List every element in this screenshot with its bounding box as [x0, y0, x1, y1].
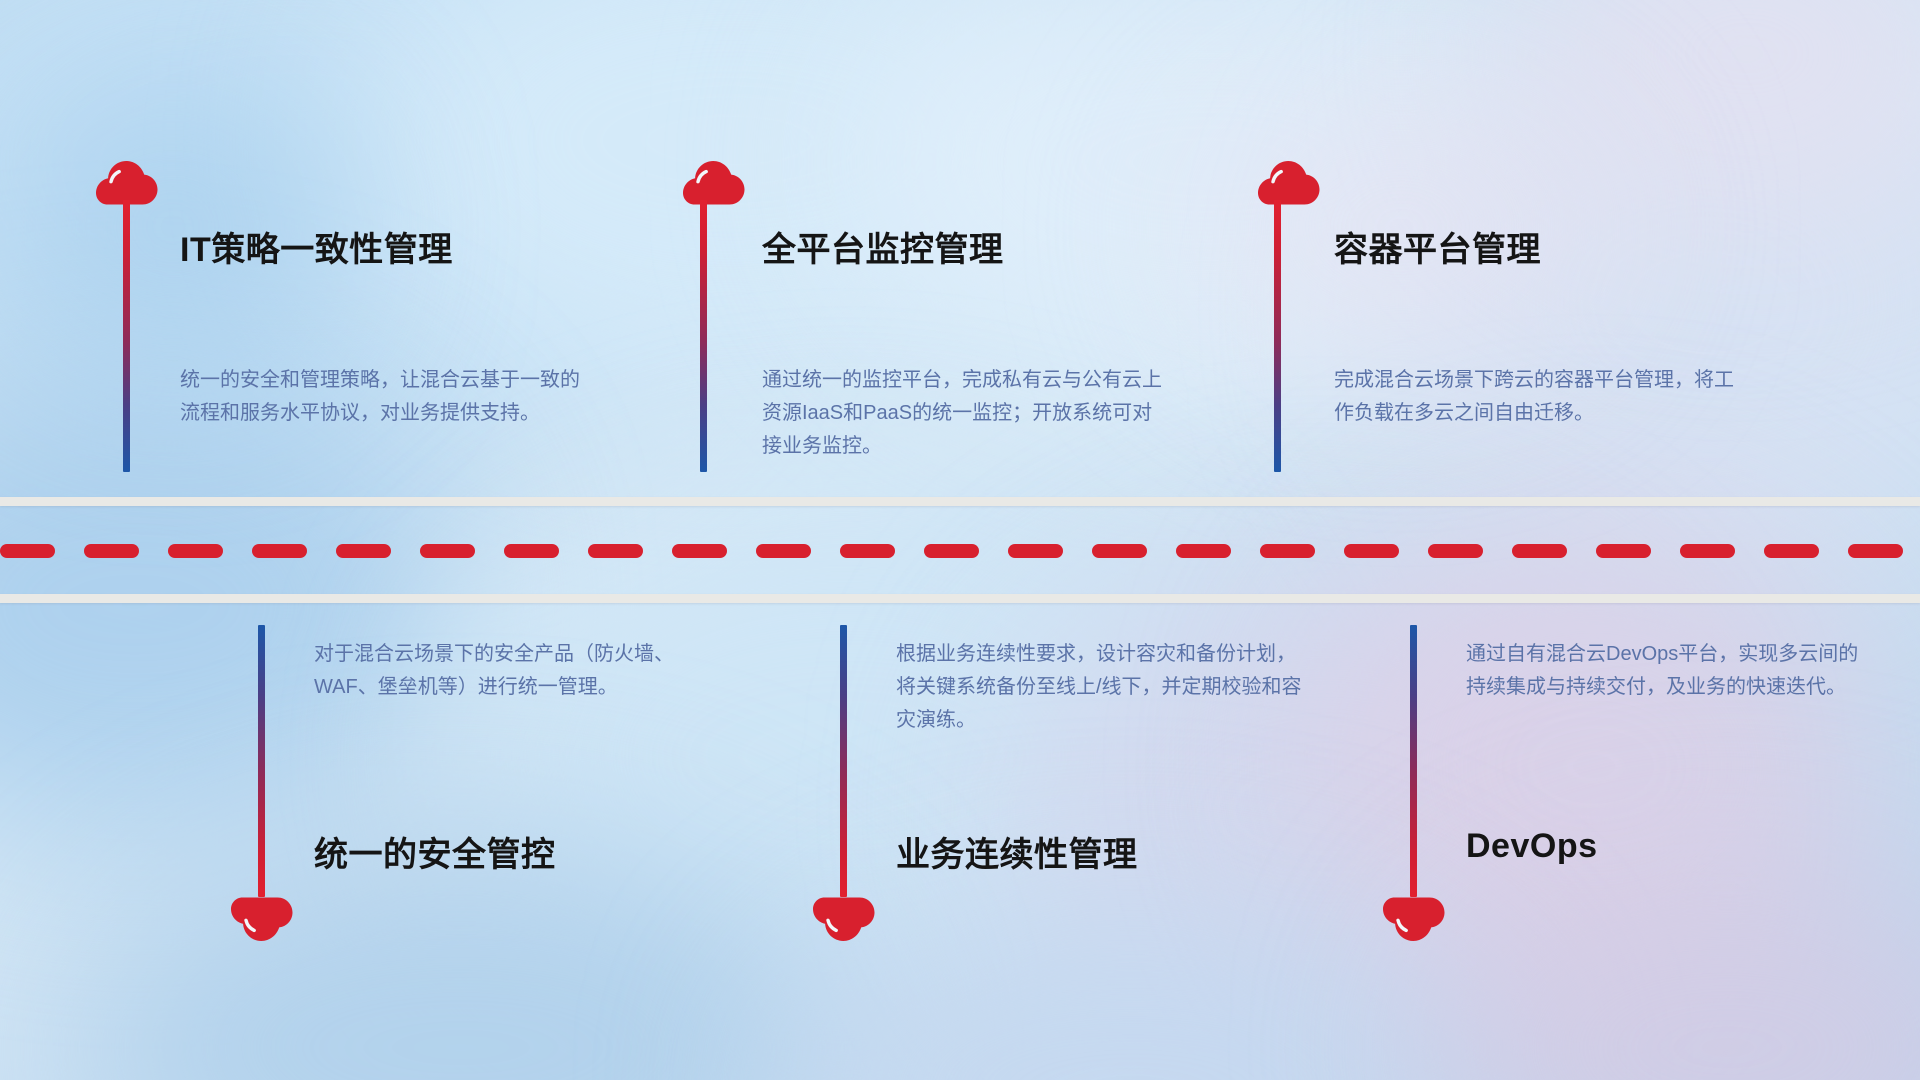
- road-dash: [1008, 544, 1063, 558]
- connector-line: [1274, 200, 1281, 472]
- cloud-icon: [231, 897, 293, 941]
- road-dash: [1596, 544, 1651, 558]
- cloud-icon: [813, 897, 875, 941]
- feature-description: 完成混合云场景下跨云的容器平台管理，将工作负载在多云之间自由迁移。: [1334, 364, 1744, 430]
- connector-line: [258, 625, 265, 897]
- connector-line: [840, 625, 847, 897]
- road-dash: [1092, 544, 1147, 558]
- feature-description: 通过统一的监控平台，完成私有云与公有云上资源IaaS和PaaS的统一监控；开放系…: [762, 364, 1172, 463]
- road-dash: [420, 544, 475, 558]
- road-dash: [756, 544, 811, 558]
- road-dash: [1764, 544, 1819, 558]
- connector-line: [1410, 625, 1417, 897]
- feature-title: 统一的安全管控: [314, 827, 556, 876]
- road-dash: [588, 544, 643, 558]
- road-dash: [1428, 544, 1483, 558]
- feature-description: 通过自有混合云DevOps平台，实现多云间的持续集成与持续交付，及业务的快速迭代…: [1466, 638, 1876, 704]
- feature-title: DevOps: [1466, 827, 1598, 866]
- feature-title: 容器平台管理: [1334, 222, 1541, 271]
- feature-description: 对于混合云场景下的安全产品（防火墙、WAF、堡垒机等）进行统一管理。: [314, 638, 724, 704]
- road-rail-bottom: [0, 594, 1920, 603]
- connector-line: [700, 200, 707, 472]
- road-dash: [840, 544, 895, 558]
- connector-line: [123, 200, 130, 472]
- road-dash: [252, 544, 307, 558]
- road-dash: [924, 544, 979, 558]
- feature-description: 根据业务连续性要求，设计容灾和备份计划，将关键系统备份至线上/线下，并定期校验和…: [896, 638, 1306, 737]
- road-dash: [504, 544, 559, 558]
- road-center-dashes: [0, 543, 1920, 558]
- road-dash: [168, 544, 223, 558]
- road-dash: [1512, 544, 1567, 558]
- cloud-icon: [96, 161, 158, 205]
- road-rail-top: [0, 497, 1920, 506]
- road-dash: [336, 544, 391, 558]
- road-dash: [0, 544, 55, 558]
- road-dash: [1344, 544, 1399, 558]
- cloud-icon: [683, 161, 745, 205]
- feature-description: 统一的安全和管理策略，让混合云基于一致的流程和服务水平协议，对业务提供支持。: [180, 364, 590, 430]
- road-dash: [1176, 544, 1231, 558]
- cloud-icon: [1258, 161, 1320, 205]
- cloud-icon: [1383, 897, 1445, 941]
- feature-title: IT策略一致性管理: [180, 222, 453, 271]
- road-dash: [1680, 544, 1735, 558]
- road-dash: [1848, 544, 1903, 558]
- feature-title: 业务连续性管理: [896, 827, 1138, 876]
- road-dash: [84, 544, 139, 558]
- feature-title: 全平台监控管理: [762, 222, 1004, 271]
- road-dash: [672, 544, 727, 558]
- road-dash: [1260, 544, 1315, 558]
